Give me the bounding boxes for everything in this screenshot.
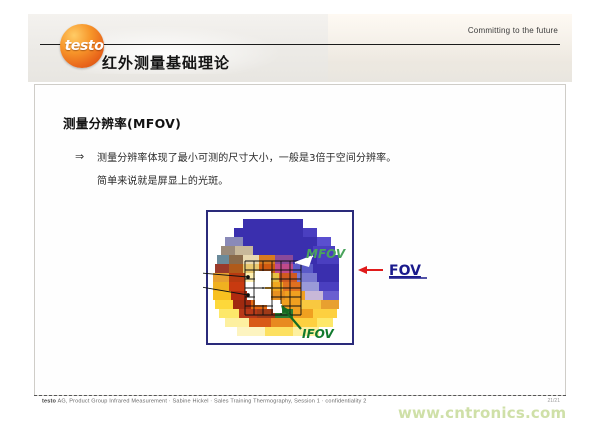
testo-logo: testo: [60, 24, 104, 68]
footer-company: testo: [42, 398, 56, 404]
ifov-label: IFOV: [302, 327, 335, 341]
brand-tagline: Committing to the future: [468, 26, 558, 35]
site-watermark: www.cntronics.com: [398, 404, 566, 422]
fov-mfov-ifov-figure: MFOV IFOV FOV: [203, 205, 435, 353]
fov-arrow-icon: [358, 266, 367, 274]
footer-text: testo AG, Product Group Infrared Measure…: [42, 398, 366, 404]
slide-title: 红外测量基础理论: [102, 52, 230, 73]
header-gradient-right: [328, 14, 572, 82]
presentation-slide: Committing to the future testo 红外测量基础理论 …: [28, 14, 572, 410]
footer-detail: AG, Product Group Infrared Measurement ·…: [58, 398, 367, 404]
bullet-arrow-icon: ⇒: [75, 150, 84, 163]
footer-divider: [34, 395, 566, 396]
header-divider-rule: [40, 44, 560, 45]
mfov-label: MFOV: [306, 247, 347, 261]
thermal-image-panel: [203, 211, 353, 344]
fov-callout: FOV: [358, 263, 427, 279]
bullet-text-line-1: 测量分辨率体现了最小可测的尺寸大小，一般是3倍于空间分辨率。: [97, 149, 396, 164]
bullet-text-line-2: 简单来说就是屏显上的光斑。: [97, 172, 228, 187]
slide-body: 测量分辨率(MFOV) ⇒ 测量分辨率体现了最小可测的尺寸大小，一般是3倍于空间…: [34, 84, 566, 396]
fov-label: FOV: [389, 263, 421, 279]
section-heading: 测量分辨率(MFOV): [63, 113, 181, 132]
